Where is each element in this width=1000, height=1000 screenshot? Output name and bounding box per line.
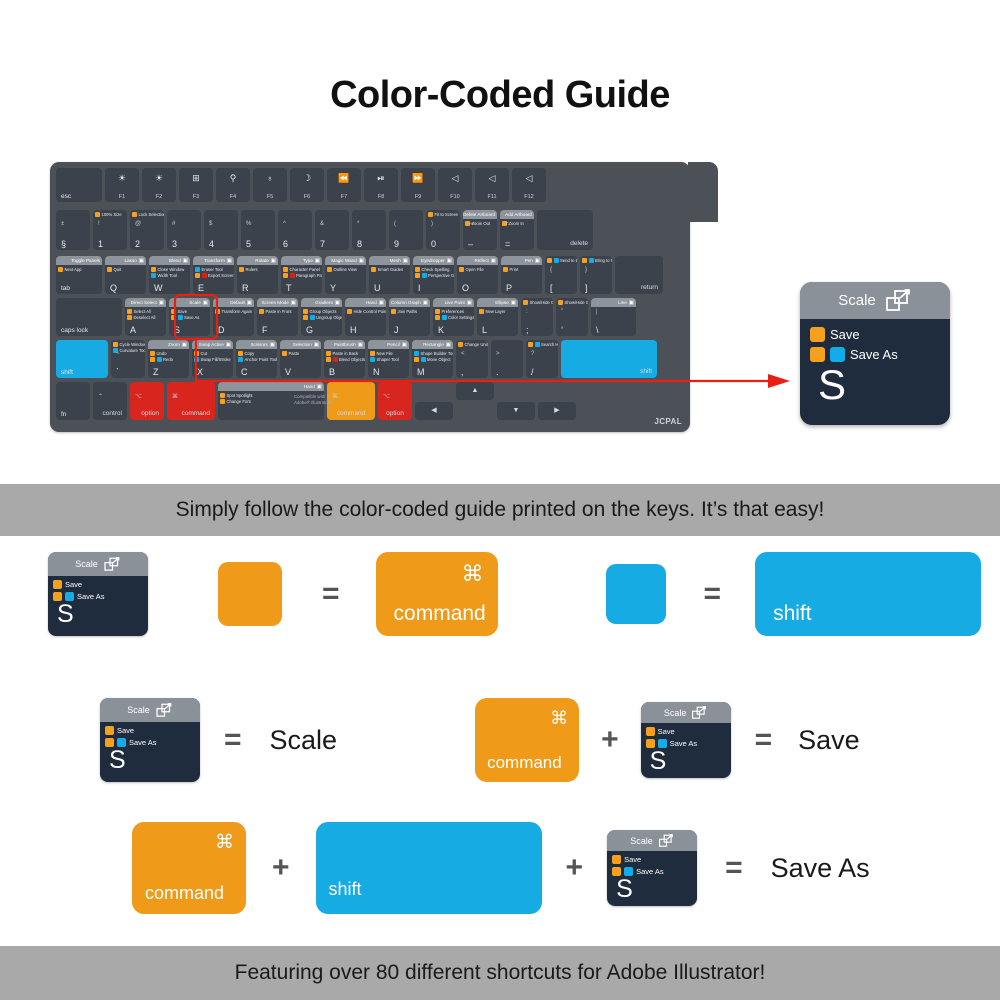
key-shortcut: Change Units (458, 342, 488, 347)
key-caption: Blend▣ (149, 256, 190, 265)
blue-swatch (194, 357, 199, 362)
orange-swatch (282, 351, 287, 356)
key-shortcut-label: Cycle Windows (120, 342, 146, 347)
key-shortcut: Color Settings (435, 315, 474, 320)
key-upper-glyph: < (461, 351, 465, 357)
keyboard-key-delete[interactable]: delete (537, 210, 593, 250)
keyboard-key-control[interactable]: ⌃control (93, 382, 127, 420)
key-label: esc (61, 193, 71, 201)
key-caption-label: Reflect (474, 258, 488, 263)
key-upper-glyph: @ (135, 221, 141, 227)
keyboard-key-◁[interactable]: ◁F12 (512, 168, 546, 202)
mini-key-shortcut: Save (53, 580, 148, 589)
orange-swatch (479, 309, 484, 314)
key-caption: Eyedropper▣ (413, 256, 454, 265)
fast-forward-icon: ⏩ (401, 173, 435, 183)
keyboard-key-g[interactable]: Gradient▣Group ObjectsUngroup ObjectsG (301, 298, 342, 336)
key-shortcut: Hide Control Points (347, 309, 386, 314)
keyboard-key-7[interactable]: &7 (315, 210, 349, 250)
legend-shift-label: shift (773, 602, 812, 626)
key-caption-label: Selection (293, 342, 312, 347)
key-shortcut-label: Paste (289, 351, 300, 356)
key-shortcut-label: Quit (114, 267, 122, 272)
fn-label: F6 (290, 194, 324, 200)
key-caption-label: Pen (525, 258, 533, 263)
keyboard-key-3[interactable]: #3 (167, 210, 201, 250)
key-glyph: X (197, 368, 203, 377)
mini-key-shortcut-label: Save As (670, 739, 698, 748)
key-shortcut: Blend Objects (326, 357, 365, 362)
keyboard-key-p[interactable]: Pen▣PrintP (501, 256, 542, 294)
keyboard-key-6[interactable]: ^6 (278, 210, 312, 250)
keyboard-key-=[interactable]: Add ArtboardZoom In+= (500, 210, 534, 250)
key-glyph: 3 (172, 240, 177, 249)
keyboard-key-◁[interactable]: ◁F10 (438, 168, 472, 202)
key-glyph: V (285, 368, 291, 377)
key-caption: Swap Active▣ (192, 340, 233, 349)
key-glyph: ` (116, 368, 119, 377)
fn-label: F12 (512, 194, 546, 200)
key-caption-label: Delete Artboard (463, 212, 495, 217)
keyboard-key-command[interactable]: ⌘command (167, 382, 215, 420)
key-shortcut-label: Hide Control Points (354, 309, 387, 314)
keyboard-key-i[interactable]: Eyedropper▣Check SpellingPerspective Gri… (413, 256, 454, 294)
keyboard-key-☽[interactable]: ☽F6 (290, 168, 324, 202)
mini-key-shortcut: Save (646, 727, 731, 736)
microphone-icon: ♁ (253, 173, 287, 183)
key-shortcut: Eraser Tool (195, 267, 223, 272)
keyboard-key-;[interactable]: Show/Hide Guides:; (521, 298, 553, 336)
key-shortcut: Transform Again (215, 309, 252, 314)
orange-swatch (435, 309, 440, 314)
keyboard-key-5[interactable]: %5 (241, 210, 275, 250)
gradient-icon: ▣ (335, 300, 340, 306)
orange-swatch (558, 300, 563, 305)
key-caption-label: Paintbrush (334, 342, 356, 347)
keyboard-key-◁[interactable]: ◁F11 (475, 168, 509, 202)
keyboard-key-u[interactable]: Mesh▣Smart GuidesU (369, 256, 410, 294)
legend-equals-blue: = (704, 577, 722, 611)
key-glyph: R (242, 284, 249, 293)
fn-label: F7 (327, 194, 361, 200)
key-shortcut-label: Spot Spotlight (227, 393, 253, 398)
keyboard-key-m[interactable]: Rectangle▣Shape Builder ToolMove ObjectM (412, 340, 453, 378)
key-shortcut: Perspective Grid (415, 273, 454, 278)
default-icon: ▣ (247, 300, 252, 306)
keyboard-row-asdf: caps lockDirect Select▣Select AllDeselec… (56, 298, 636, 336)
keyboard-key-o[interactable]: Reflect▣Open FileO (457, 256, 498, 294)
mini-key-shortcut-label: Save (624, 855, 641, 864)
keyboard-key-9[interactable]: (9 (389, 210, 423, 250)
mini-key-shortcut: Save (612, 855, 697, 864)
keyboard-key-n[interactable]: Pencil▣New FileShaper ToolN (368, 340, 409, 378)
blue-swatch (422, 273, 427, 278)
keyboard-key-j[interactable]: Column Graph▣Join PathsJ (389, 298, 430, 336)
keyboard-key-/[interactable]: Search Help?/ (526, 340, 558, 378)
key-shortcut-label: Copy (245, 351, 255, 356)
orange-swatch (810, 347, 825, 362)
orange-swatch (151, 267, 156, 272)
key-glyph: 2 (135, 240, 140, 249)
keyboard-key-option[interactable]: ⌥option (130, 382, 164, 420)
keyboard-key-shift[interactable]: shift (561, 340, 657, 378)
keyboard-key-r[interactable]: Rotate▣RulersR (237, 256, 278, 294)
key-caption: Type▣ (281, 256, 322, 265)
key-upper-glyph: # (172, 221, 175, 227)
keyboard-body: esc☀F1☀F2⊞F3⚲F4♁F5☽F6⏪F7⏯F8⏩F9◁F10◁F11◁F… (50, 162, 690, 432)
keyboard-key-y[interactable]: Magic Wand▣Outline ViewY (325, 256, 366, 294)
key-caption: Reflect▣ (457, 256, 498, 265)
key-caption-label: Scissors (250, 342, 267, 347)
key-shortcut-label: Character Panel (290, 267, 320, 272)
mini-key-header: Scale (607, 830, 697, 851)
key-glyph: I (418, 284, 421, 293)
blue-swatch (370, 357, 375, 362)
key-glyph: T (286, 284, 292, 293)
keyboard-key-.[interactable]: >. (491, 340, 523, 378)
key-glyph: 9 (394, 240, 399, 249)
key-shortcut-label: Export Screens (208, 273, 234, 278)
key-caption-label: Lasso (125, 258, 137, 263)
orange-swatch (215, 309, 220, 314)
key-caption: Line▣ (591, 298, 636, 307)
orange-swatch (326, 351, 331, 356)
orange-swatch (171, 315, 176, 320)
key-upper-glyph: ? (531, 351, 534, 357)
key-glyph: 7 (320, 240, 325, 249)
key-shortcut: Paragraph Panel (283, 273, 322, 278)
orange-swatch (523, 300, 528, 305)
keyboard-key-⊞[interactable]: ⊞F3 (179, 168, 213, 202)
command-symbol-icon: ⌘ (215, 831, 234, 855)
callout-header: Scale (800, 282, 950, 319)
key-shortcut: Next App (58, 267, 82, 272)
mission-control-icon: ⊞ (179, 173, 213, 183)
mini-key-title: Scale (630, 836, 653, 846)
keyboard-key-[[interactable]: Send to Back{[ (545, 256, 577, 294)
keyboard-key-1[interactable]: 100% Size!1 (93, 210, 127, 250)
mini-key-title: Scale (127, 705, 150, 715)
key-shortcut: Select All (127, 309, 151, 314)
keyboard-key-v[interactable]: Selection▣PasteV (280, 340, 321, 378)
keyboard-key-c[interactable]: Scissors▣CopyAnchor Point ToolC (236, 340, 277, 378)
fn-label: F3 (179, 194, 213, 200)
banner-footer: Featuring over 80 different shortcuts fo… (0, 946, 1000, 1000)
keyboard-key-♁[interactable]: ♁F5 (253, 168, 287, 202)
keyboard-key-2[interactable]: Lock Selection@2 (130, 210, 164, 250)
keyboard-key-key[interactable]: ▼ (497, 402, 535, 420)
orange-swatch (113, 342, 118, 347)
key-shortcut-label: Show/Hide Grid (565, 300, 589, 305)
keyboard-notch (688, 162, 718, 210)
key-shortcut-label: Open File (466, 267, 484, 272)
key-shortcut: Spot Spotlight (220, 393, 253, 398)
keyboard-key-tab[interactable]: Toggle PanelsNext Apptab (56, 256, 102, 294)
keyboard-key-,[interactable]: Change Units<, (456, 340, 488, 378)
key-glyph: Y (330, 284, 336, 293)
command-symbol-icon: ⌘ (550, 706, 568, 730)
key-caption: Selection▣ (280, 340, 321, 349)
scale-icon (886, 289, 912, 313)
mini-key-shortcut-label: Save As (636, 867, 664, 876)
key-glyph: J (394, 326, 399, 335)
key-label: control (102, 410, 122, 417)
key-shortcut-label: Shaper Tool (377, 357, 399, 362)
keyboard-key-z[interactable]: Zoom▣UndoRedoZ (148, 340, 189, 378)
page-title: Color-Coded Guide (0, 0, 1000, 117)
volume-down-icon: ◁ (475, 173, 509, 183)
key-shortcut: Paste (282, 351, 299, 356)
keyboard-key-w[interactable]: Blend▣Close WindowWidth ToolW (149, 256, 190, 294)
key-caption-label: Line (618, 300, 627, 305)
key-shortcut: New Layer (479, 309, 506, 314)
orange-swatch (371, 267, 376, 272)
key-glyph: M (417, 368, 425, 377)
key-shortcut: 100% Size (95, 212, 122, 217)
keyboard-key-capslock[interactable]: caps lock (56, 298, 122, 336)
keyboard-key-key[interactable]: ▲ (456, 382, 494, 400)
keyboard-key-k[interactable]: Live Paint▣PreferencesColor SettingsK (433, 298, 474, 336)
key-caption: Transform▣ (193, 256, 234, 265)
key-caption: Rectangle▣ (412, 340, 453, 349)
keyboard-key-`[interactable]: Cycle WindowsCurvature Tool~` (111, 340, 145, 378)
key-glyph: – (468, 240, 473, 249)
keyboard-key-d[interactable]: Default▣Transform AgainD (213, 298, 254, 336)
key-caption: Ellipse▣ (477, 298, 518, 307)
orange-swatch (132, 212, 137, 217)
mini-key-shortcuts: Save Save As S (607, 851, 697, 899)
key-shortcut-label: Join Paths (398, 309, 418, 314)
mini-key-letter: S (57, 604, 148, 624)
keyboard-key-–[interactable]: Delete ArtboardZoom Out—– (463, 210, 497, 250)
brand-label: JCPAL (654, 417, 682, 426)
key-glyph: S (174, 326, 180, 335)
keyboard-key-§[interactable]: ±§ (56, 210, 90, 250)
orange-swatch (414, 357, 419, 362)
banner-instruction-text: Simply follow the color-coded guide prin… (176, 498, 825, 522)
keyboard-key-8[interactable]: *8 (352, 210, 386, 250)
keyboard-key-4[interactable]: $4 (204, 210, 238, 250)
equals-sign: = (755, 723, 773, 757)
key-label: caps lock (61, 327, 88, 335)
keyboard-key-☀[interactable]: ☀F2 (142, 168, 176, 202)
keyboard-key-][interactable]: Bring to Front}] (580, 256, 612, 294)
fn-label: F10 (438, 194, 472, 200)
equation-result-scale: Scale (270, 725, 338, 756)
keyboard-key-t[interactable]: Type▣Character PanelParagraph PanelT (281, 256, 322, 294)
transform-icon: ▣ (227, 258, 232, 264)
keyboard-key-e[interactable]: Transform▣Eraser ToolExport ScreensE (193, 256, 234, 294)
key-caption-label: Mesh (390, 258, 401, 263)
keyboard-key-a[interactable]: Direct Select▣Select AllDeselect AllA (125, 298, 166, 336)
key-shortcut-label: Rulers (246, 267, 258, 272)
equation-result-save: Save (798, 725, 860, 756)
key-caption: Scissors▣ (236, 340, 277, 349)
keyboard-key-0[interactable]: Fit to Screen)0 (426, 210, 460, 250)
graph-icon: ▣ (423, 300, 428, 306)
mini-key-shortcuts: Save Save As S (48, 576, 148, 624)
key-caption: Paintbrush▣ (324, 340, 365, 349)
key-caption-label: Add Artboard (505, 212, 532, 217)
equation-mini-key-scale-2: Scale Save Save As S (641, 702, 731, 778)
line-icon: ▣ (629, 300, 634, 306)
key-shortcut: Close Window (151, 267, 184, 272)
key-glyph: 1 (98, 240, 103, 249)
mute-icon: ◁ (438, 173, 472, 183)
ellipse-icon: ▣ (511, 300, 516, 306)
keyboard-row-number: ±§100% Size!1Lock Selection@2#3$4%5^6&7*… (56, 210, 593, 250)
key-caption-label: Direct Select (131, 300, 157, 305)
scale-icon (104, 557, 121, 572)
mini-key-shortcut-label: Save (117, 726, 134, 735)
key-caption: Live Paint▣ (433, 298, 474, 307)
play-pause-icon: ⏯ (364, 173, 398, 183)
key-glyph: [ (550, 284, 553, 293)
key-caption: Toggle Panels (56, 256, 102, 265)
blue-swatch (442, 315, 447, 320)
keyboard-key-h[interactable]: Hand▣Hide Control PointsH (345, 298, 386, 336)
zoom-icon: ▣ (182, 342, 187, 348)
orange-swatch (435, 315, 440, 320)
blue-swatch (414, 351, 419, 356)
key-shortcut: Smart Guides (371, 267, 403, 272)
screen-mode-icon: ▣ (291, 300, 296, 306)
keyboard-key-shift[interactable]: shift (56, 340, 108, 378)
key-glyph: B (329, 368, 335, 377)
key-upper-glyph: ! (98, 221, 100, 227)
brightness-down-icon: ☀ (105, 173, 139, 183)
legend-shift-key: shift (755, 552, 981, 636)
orange-swatch (303, 309, 308, 314)
key-shortcut-label: Print (510, 267, 519, 272)
plus-sign: + (272, 851, 290, 885)
keyboard-key-\[interactable]: Line▣|\ (591, 298, 636, 336)
equation3-shift-label: shift (329, 879, 362, 900)
legend-command-key: ⌘ command (376, 552, 498, 636)
callout-shortcut-label: Save As (850, 347, 898, 362)
search-icon: ⚲ (216, 173, 250, 183)
red-swatch (202, 273, 207, 278)
key-upper-glyph: ~ (116, 351, 120, 357)
command-symbol-icon: ⌘ (462, 562, 484, 586)
keyboard-key-esc[interactable]: esc (56, 168, 102, 202)
key-upper-glyph: ” (561, 309, 563, 315)
legend-orange-swatch (218, 562, 282, 626)
red-swatch (290, 273, 295, 278)
key-upper-glyph: % (246, 221, 251, 227)
keyboard-key-⏯[interactable]: ⏯F8 (364, 168, 398, 202)
keyboard-key-☀[interactable]: ☀F1 (105, 168, 139, 202)
scale-icon: ▣ (203, 300, 208, 306)
mini-key-letter: S (650, 751, 731, 771)
key-upper-glyph: — (468, 221, 474, 227)
rectangle-icon: ▣ (446, 342, 451, 348)
keyboard-key-f[interactable]: Screen Mode▣Paste in FrontF (257, 298, 298, 336)
wand-icon: ▣ (359, 258, 364, 264)
orange-swatch (53, 580, 62, 589)
keyboard-key-fn[interactable]: fn (56, 382, 90, 420)
keyboard-key-b[interactable]: Paintbrush▣Paste in BackBlend ObjectsB (324, 340, 365, 378)
key-shortcut-label: Change Units (465, 342, 489, 347)
key-shortcut: Show/Hide Guides (523, 300, 553, 305)
key-shortcut-label: Move Object (427, 357, 451, 362)
key-glyph: 0 (431, 240, 436, 249)
keyboard-key-return[interactable]: return (615, 256, 663, 294)
callout-body: Save Save As S (800, 319, 950, 403)
key-caption: Default▣ (213, 298, 254, 307)
key-caption-label: Eyedropper (421, 258, 445, 263)
key-caption: Hand▣ (345, 298, 386, 307)
key-caption-label: Default (230, 300, 245, 305)
key-shortcut: Width Tool (151, 273, 177, 278)
orange-swatch (150, 357, 155, 362)
key-shortcut-label: Smart Guides (378, 267, 404, 272)
key-caption-label: Swap Active (199, 342, 224, 347)
key-shortcut-label: Transform Again (222, 309, 253, 314)
orange-swatch (612, 855, 621, 864)
key-label: option (378, 410, 412, 417)
orange-swatch (95, 212, 100, 217)
equation3-mini-key-scale: Scale Save Save As S (607, 830, 697, 906)
key-caption: Gradient▣ (301, 298, 342, 307)
key-shortcut-label: Fit to Screen (435, 212, 459, 217)
eyedropper-icon: ▣ (447, 258, 452, 264)
mini-key-header: Scale (100, 698, 200, 722)
key-glyph: N (373, 368, 380, 377)
keyboard-key-⚲[interactable]: ⚲F4 (216, 168, 250, 202)
key-label: option (141, 410, 159, 417)
key-caption-label: Hand (304, 384, 315, 389)
key-caption: Hand▣ (218, 382, 324, 391)
blue-swatch (195, 267, 200, 272)
callout-shortcut-save-as: Save As (810, 347, 950, 362)
key-upper-glyph: ⌃ (98, 393, 103, 400)
key-upper-glyph: * (357, 221, 359, 227)
legend-blue-swatch (606, 564, 666, 624)
keyboard-key-s-highlighted[interactable]: Scale▣SaveSave AsS (169, 298, 210, 336)
keyboard-key-x[interactable]: Swap Active▣CutSwap Fill/StrokeX (192, 340, 233, 378)
key-shortcut: Open File (459, 267, 484, 272)
key-label: fn (61, 411, 66, 419)
key-shortcut-label: Save (178, 309, 188, 314)
key-caption-label: Scale (189, 300, 201, 305)
mini-key-shortcut: Save (105, 726, 200, 735)
callout-key-letter: S (818, 367, 950, 403)
keyboard-key-key[interactable]: ◀ (415, 402, 453, 420)
key-label: command (181, 410, 210, 417)
mini-key-shortcuts: Save Save As S (100, 722, 200, 770)
keyboard-key-⏪[interactable]: ⏪F7 (327, 168, 361, 202)
keyboard-key-’[interactable]: Show/Hide Grid”’ (556, 298, 588, 336)
key-caption: Mesh▣ (369, 256, 410, 265)
key-shortcut-label: Perspective Grid (428, 273, 454, 278)
key-glyph: A (130, 326, 136, 335)
key-shortcut: Save As (171, 315, 199, 320)
live-paint-icon: ▣ (467, 300, 472, 306)
blend-icon: ▣ (183, 258, 188, 264)
keyboard-key-l[interactable]: Ellipse▣New LayerL (477, 298, 518, 336)
keyboard-key-q[interactable]: Lasso▣QuitQ (105, 256, 146, 294)
key-caption-label: Pencil (387, 342, 400, 347)
hand-icon: ▣ (317, 384, 322, 390)
orange-swatch (107, 267, 112, 272)
keyboard-key-⏩[interactable]: ⏩F9 (401, 168, 435, 202)
keyboard-key-key[interactable]: ▶ (538, 402, 576, 420)
fn-label: F1 (105, 194, 139, 200)
keyboard-row-function: esc☀F1☀F2⊞F3⚲F4♁F5☽F6⏪F7⏯F8⏩F9◁F10◁F11◁F… (56, 168, 546, 202)
equation3-command-label: command (145, 883, 224, 904)
arrow-up-icon: ▲ (456, 387, 494, 394)
